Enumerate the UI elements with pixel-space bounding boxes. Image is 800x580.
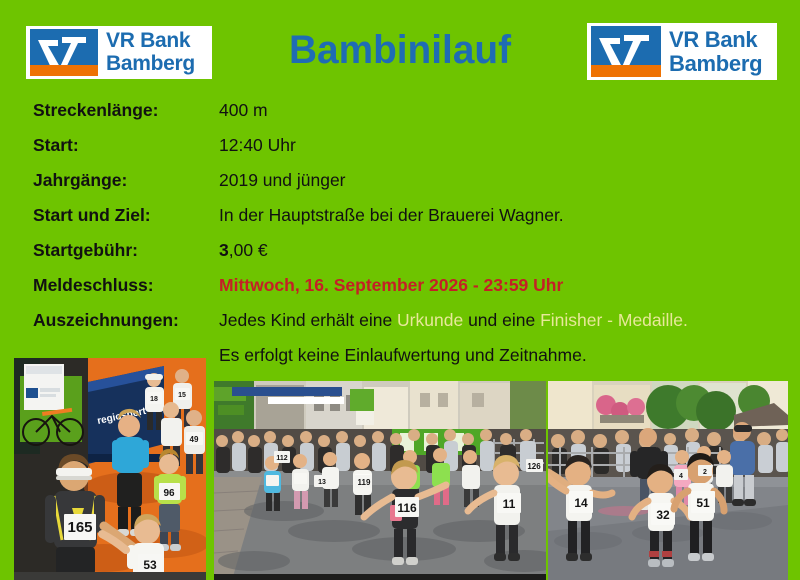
svg-text:165: 165 — [67, 519, 92, 536]
vr-bank-logo-mark-right — [591, 26, 661, 77]
detail-row-start-und-ziel: Start und Ziel: In der Hauptstraße bei d… — [33, 205, 773, 240]
photo-young-runners: 14 32 — [548, 381, 788, 580]
detail-value: 2019 und jünger — [219, 170, 773, 191]
vr-bank-logo-right: VR Bank Bamberg — [587, 23, 777, 80]
detail-label: Meldeschluss: — [33, 275, 219, 296]
vr-bank-logo-text-right: VR Bank Bamberg — [661, 26, 773, 77]
detail-label: Streckenlänge: — [33, 100, 219, 121]
svg-text:11: 11 — [503, 497, 516, 511]
svg-text:53: 53 — [143, 558, 157, 572]
svg-text:96: 96 — [163, 488, 175, 499]
detail-value: In der Hauptstraße bei der Brauerei Wagn… — [219, 205, 773, 226]
svg-text:14: 14 — [574, 496, 588, 510]
svg-text:4: 4 — [679, 473, 683, 480]
detail-value: 12:40 Uhr — [219, 135, 773, 156]
detail-label: Auszeichnungen: — [33, 310, 219, 331]
event-details: Streckenlänge: 400 m Start: 12:40 Uhr Ja… — [33, 100, 773, 370]
detail-row-startgebuehr: Startgebühr: 3,00 € — [33, 240, 773, 275]
detail-row-auszeichnungen: Auszeichnungen: Jedes Kind erhält eine U… — [33, 310, 773, 340]
awards-text-2: und eine — [463, 310, 540, 330]
poster-header: VR Bank Bamberg Bambinilauf VR Bank Bamb… — [0, 0, 800, 92]
svg-text:32: 32 — [656, 508, 670, 522]
detail-value-awards-line1: Jedes Kind erhält eine Urkunde und eine … — [219, 310, 773, 331]
awards-highlight-urkunde: Urkunde — [397, 310, 463, 330]
photo-strip: regiosport — [0, 356, 800, 580]
detail-row-meldeschluss: Meldeschluss: Mittwoch, 16. September 20… — [33, 275, 773, 310]
photo-1-illustration: regiosport — [14, 358, 206, 580]
svg-text:49: 49 — [190, 435, 199, 444]
svg-text:116: 116 — [397, 501, 417, 515]
svg-text:119: 119 — [358, 478, 371, 487]
svg-text:18: 18 — [150, 396, 158, 403]
awards-highlight-medaille: Finisher - Medaille. — [540, 310, 688, 330]
svg-text:15: 15 — [178, 392, 186, 399]
vr-bank-orange-bar-right — [591, 65, 661, 77]
detail-row-jahrgaenge: Jahrgänge: 2019 und jünger — [33, 170, 773, 205]
awards-text-1: Jedes Kind erhält eine — [219, 310, 397, 330]
fee-amount: 3 — [219, 240, 229, 260]
detail-value: 400 m — [219, 100, 773, 121]
detail-label: Start und Ziel: — [33, 205, 219, 226]
svg-text:2: 2 — [703, 469, 707, 476]
detail-value: 3,00 € — [219, 240, 773, 261]
vr-bank-logo-line2-right: Bamberg — [669, 52, 773, 76]
photo-2-illustration: 116 11 112 13 119 126 — [214, 381, 546, 580]
svg-text:112: 112 — [276, 455, 287, 462]
fee-decimals: ,00 € — [229, 240, 268, 260]
svg-text:51: 51 — [696, 496, 710, 510]
detail-label: Jahrgänge: — [33, 170, 219, 191]
svg-text:13: 13 — [318, 479, 326, 486]
photo-mass-start-street: 116 11 112 13 119 126 — [214, 381, 546, 580]
detail-row-streckenlaenge: Streckenlänge: 400 m — [33, 100, 773, 135]
detail-value-deadline: Mittwoch, 16. September 2026 - 23:59 Uhr — [219, 275, 773, 296]
svg-text:126: 126 — [527, 462, 541, 471]
photo-finish-orange-track: regiosport — [14, 358, 206, 580]
detail-label: Start: — [33, 135, 219, 156]
photo-3-illustration: 14 32 — [548, 381, 788, 580]
vr-bank-logo-line1-right: VR Bank — [669, 28, 773, 52]
detail-label: Startgebühr: — [33, 240, 219, 261]
detail-row-start: Start: 12:40 Uhr — [33, 135, 773, 170]
